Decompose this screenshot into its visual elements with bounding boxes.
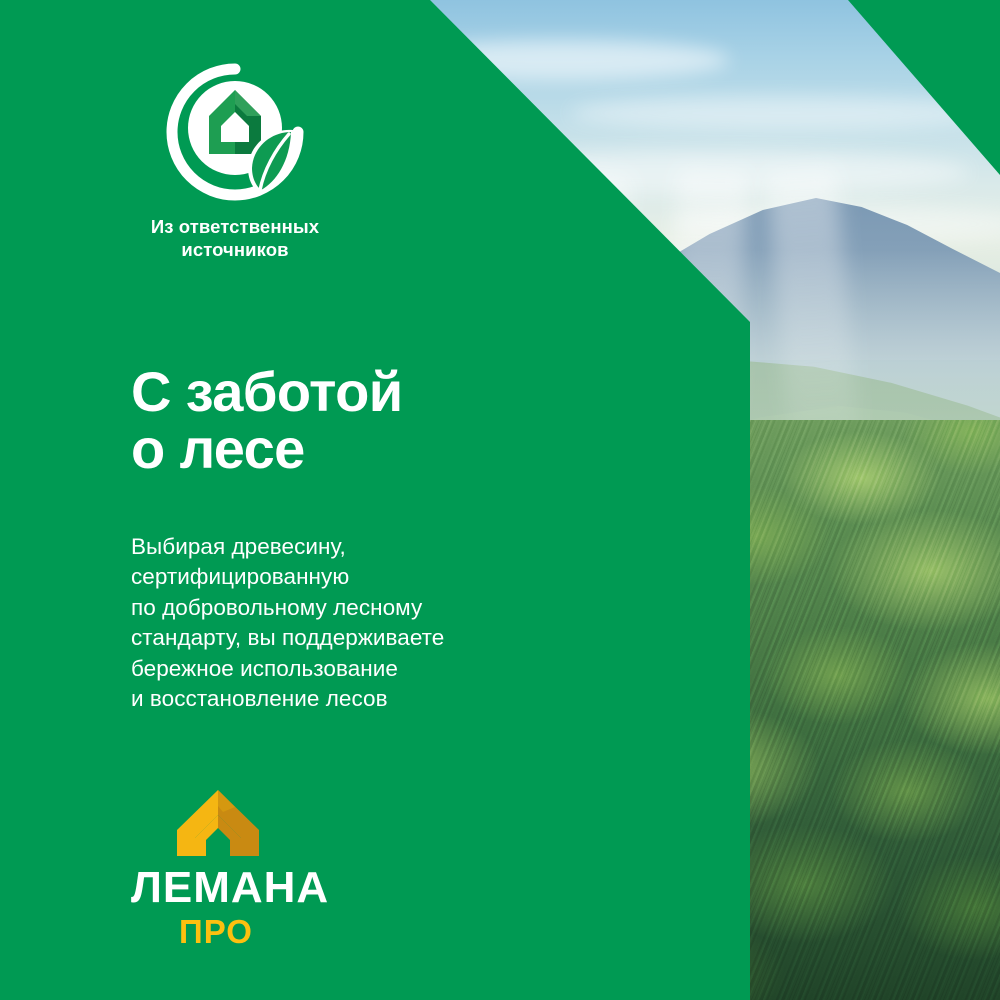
eco-caption-line-1: Из ответственных — [130, 216, 340, 239]
body-line-6: и восстановление лесов — [131, 684, 651, 714]
body-line-3: по добровольному лесному — [131, 593, 651, 623]
body-paragraph: Выбирая древесину, сертифицированную по … — [131, 532, 651, 714]
house-leaf-circle-icon — [165, 62, 305, 202]
body-line-1: Выбирая древесину, — [131, 532, 651, 562]
brand-subtitle: ПРО — [179, 915, 361, 948]
poster-root: Из ответственных источников С заботой о … — [0, 0, 1000, 1000]
brand-name: ЛЕМАНА — [131, 866, 361, 910]
house-roof-icon — [175, 788, 261, 858]
page-title: С заботой о лесе — [131, 363, 691, 478]
headline-line-1: С заботой — [131, 360, 403, 423]
headline-line-2: о лесе — [131, 420, 691, 478]
brand-logo: ЛЕМАНА ПРО — [131, 788, 361, 948]
body-line-2: сертифицированную — [131, 562, 651, 592]
eco-badge: Из ответственных источников — [130, 62, 340, 261]
body-line-5: бережное использование — [131, 654, 651, 684]
eco-badge-caption: Из ответственных источников — [130, 216, 340, 261]
eco-caption-line-2: источников — [130, 239, 340, 262]
poster-content: Из ответственных источников С заботой о … — [0, 0, 1000, 1000]
body-line-4: стандарту, вы поддерживаете — [131, 623, 651, 653]
